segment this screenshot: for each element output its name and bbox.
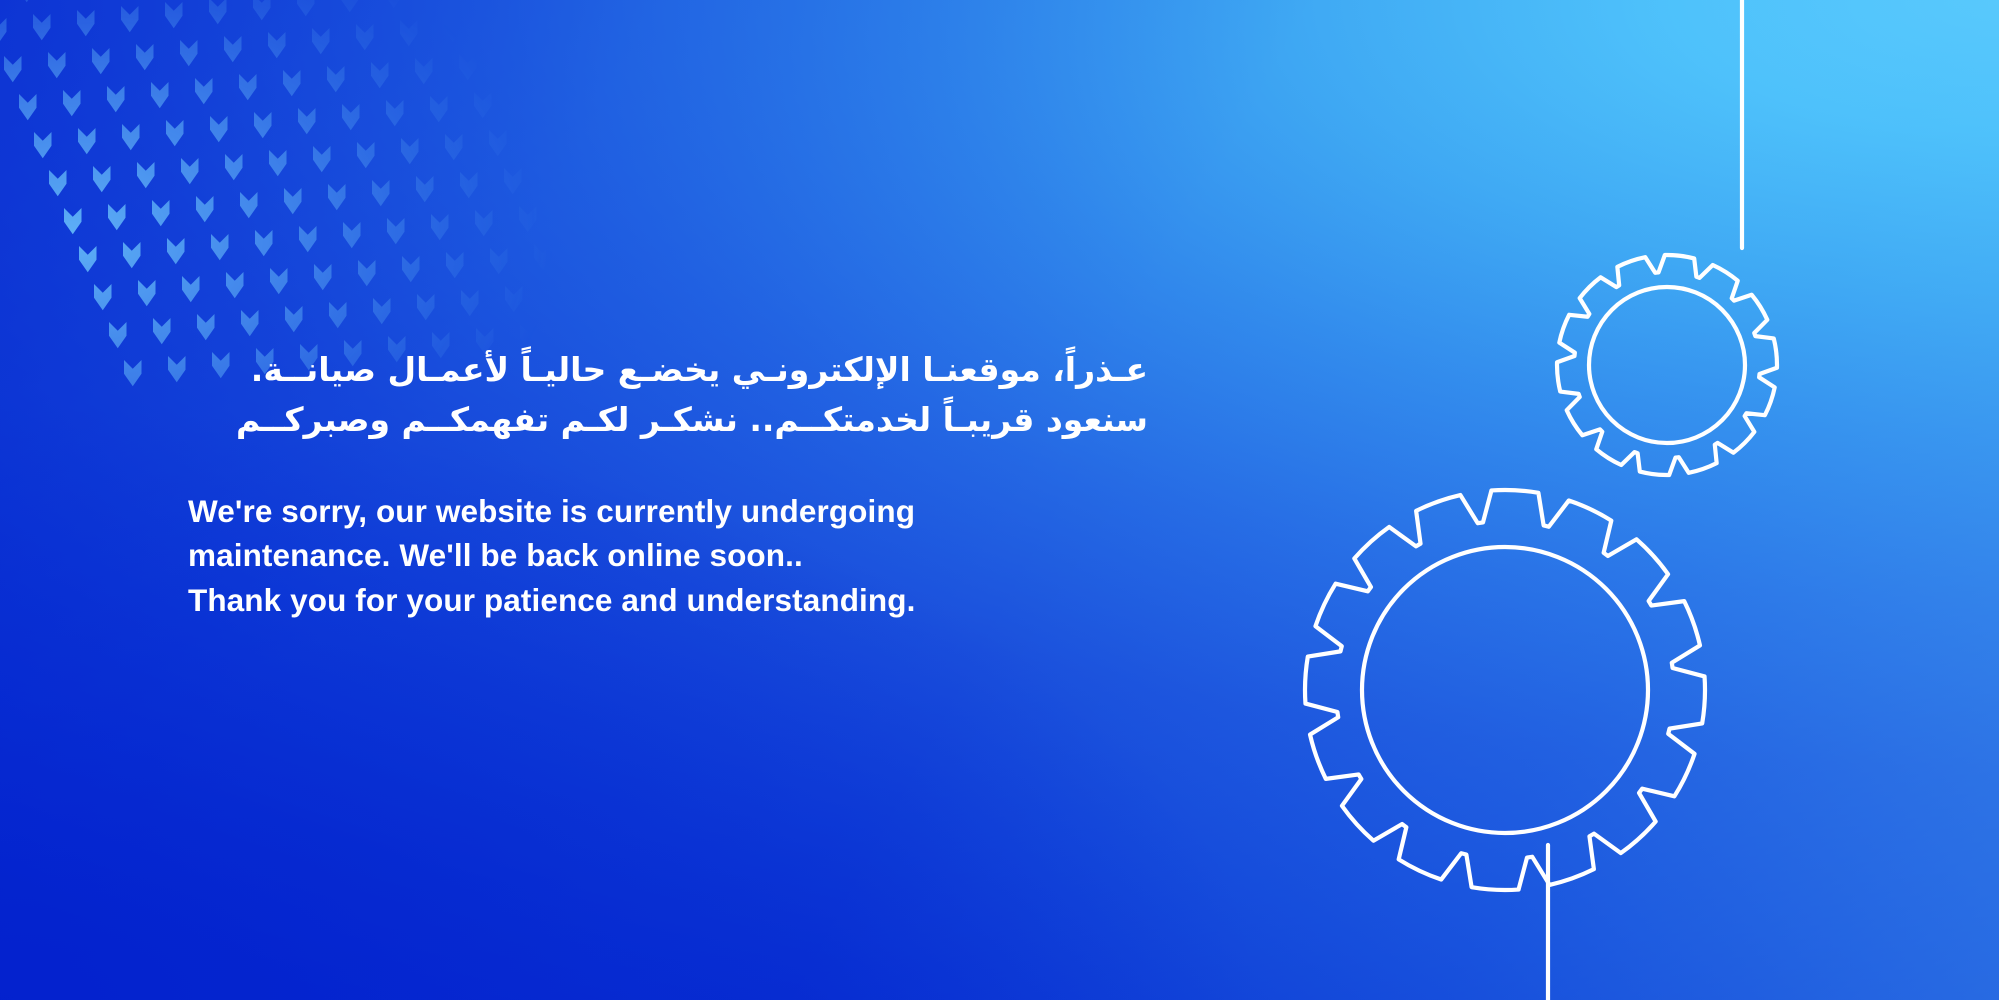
arabic-line-1: عـذراً، موقعنـا الإلكترونـي يخضـع حاليـا… (188, 345, 1148, 395)
maintenance-page: عـذراً، موقعنـا الإلكترونـي يخضـع حاليـا… (0, 0, 1999, 1000)
english-message: We're sorry, our website is currently un… (188, 489, 1148, 621)
english-line-1: We're sorry, our website is currently un… (188, 489, 1148, 533)
english-line-2: maintenance. We'll be back online soon.. (188, 533, 1148, 577)
maintenance-message: عـذراً، موقعنـا الإلكترونـي يخضـع حاليـا… (188, 345, 1148, 622)
english-line-3: Thank you for your patience and understa… (188, 578, 1148, 622)
arabic-line-2: سنعود قريبـاً لخدمتكــم.. نشكـر لكـم تفه… (188, 395, 1148, 445)
arabic-message: عـذراً، موقعنـا الإلكترونـي يخضـع حاليـا… (188, 345, 1148, 445)
